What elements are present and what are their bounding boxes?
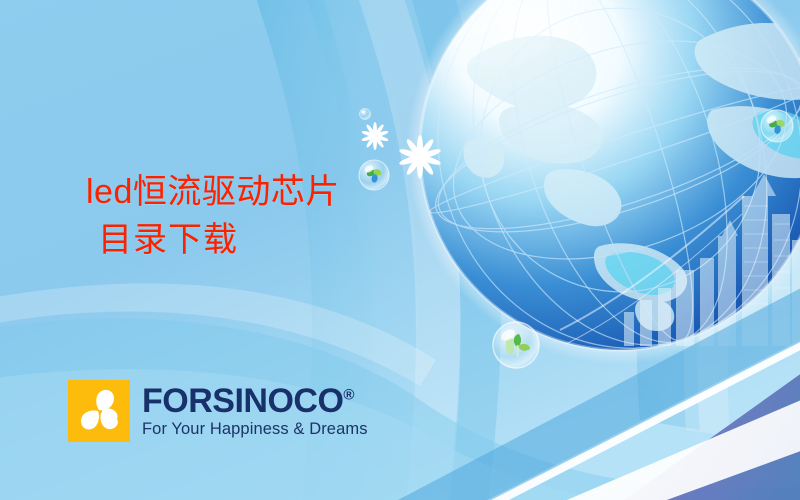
bubble-pinwheel bbox=[761, 110, 793, 142]
diagonal-white-stripe bbox=[448, 330, 800, 500]
logo-wordmark: FORSINOCO® bbox=[142, 384, 368, 418]
logo-tagline: For Your Happiness & Dreams bbox=[142, 420, 368, 439]
diagonal-blue-band bbox=[360, 278, 800, 500]
diagonal-white-band bbox=[520, 392, 800, 500]
promo-banner: led恒流驱动芯片 目录下载 FORSINOCO® For Your Happi… bbox=[0, 0, 800, 500]
four-petal-pinwheel-icon bbox=[68, 380, 130, 442]
headline-line-1-cjk: 恒流驱动芯片 bbox=[133, 174, 340, 211]
longitude-lines bbox=[387, 0, 800, 396]
headline-line-2: 目录下载 bbox=[86, 217, 340, 265]
daisy-sprite bbox=[398, 135, 441, 178]
bubble-leaf bbox=[493, 322, 539, 368]
headline-line-1: led恒流驱动芯片 bbox=[86, 168, 340, 217]
bubble-pinwheel bbox=[359, 160, 389, 190]
logo-wordmark-name: FORSINOCO bbox=[142, 382, 343, 420]
company-logo: FORSINOCO® For Your Happiness & Dreams bbox=[68, 380, 368, 442]
headline-line-1-latin: led bbox=[86, 173, 133, 211]
latitude-lines bbox=[420, 0, 800, 328]
bubble-pinwheel bbox=[360, 109, 371, 120]
registered-trademark-icon: ® bbox=[343, 386, 354, 403]
daisy-sprite bbox=[361, 122, 389, 150]
diagonal-purple-band bbox=[596, 360, 800, 500]
landmass-group bbox=[464, 23, 800, 331]
logo-text-block: FORSINOCO® For Your Happiness & Dreams bbox=[142, 384, 368, 439]
headline-text: led恒流驱动芯片 目录下载 bbox=[86, 168, 340, 266]
